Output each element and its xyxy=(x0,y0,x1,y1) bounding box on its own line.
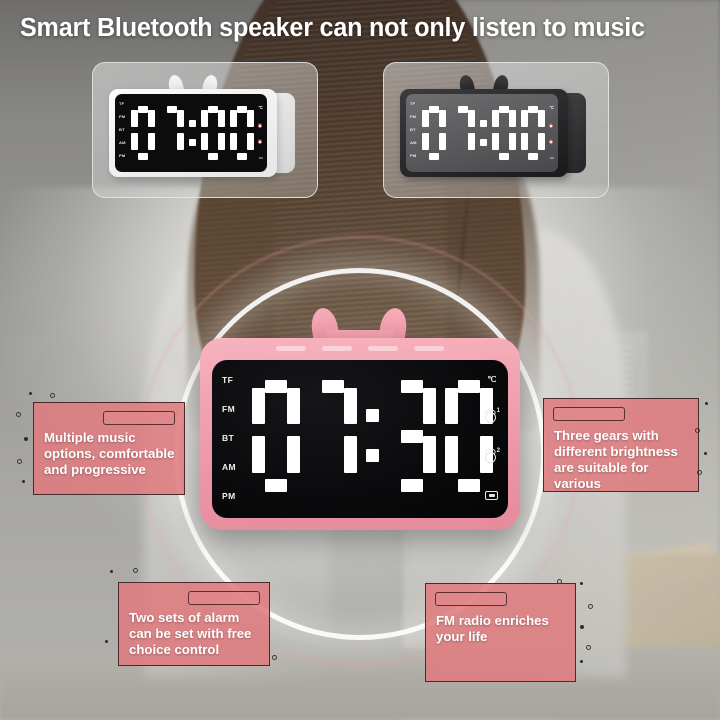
alarm-clock-icon xyxy=(485,412,496,423)
alarm1-indicator: 1 xyxy=(485,412,499,423)
clock-led-display: TF FM BT AM PM ℃ 1 2 xyxy=(212,360,508,518)
seven-segment-digit xyxy=(252,380,300,492)
indicator-sd-card: ▭ xyxy=(259,156,263,160)
white-clock-time xyxy=(131,106,254,160)
white-clock-display: TF FM BT AM PM ℃ ⏰ ⏰ ▭ xyxy=(115,94,267,172)
indicator-tf: TF xyxy=(119,102,124,106)
clock-button-4[interactable] xyxy=(414,346,444,351)
product-card-black: TF FM BT AM PM ℃ ⏰ ⏰ ▭ xyxy=(383,62,609,198)
callout-accent-bar xyxy=(435,592,507,606)
alarm2-indicator: 2 xyxy=(485,452,499,463)
alarm2-label: 2 xyxy=(497,448,500,454)
seven-segment-colon xyxy=(480,106,487,160)
callout-multiple-music-options: Multiple music options, comfortable and … xyxy=(33,402,185,495)
clock-button-row[interactable] xyxy=(210,344,510,353)
indicator-alarm2: ⏰ xyxy=(258,140,263,144)
black-clock-time xyxy=(422,106,545,160)
decorative-dot xyxy=(22,480,25,483)
decorative-dot xyxy=(557,579,562,584)
callout-accent-bar xyxy=(553,407,625,421)
indicator-sd-card: ▭ xyxy=(550,156,554,160)
decorative-dot xyxy=(16,412,21,417)
indicator-am: AM xyxy=(410,141,417,145)
clock-button-2[interactable] xyxy=(322,346,352,351)
seven-segment-digit xyxy=(201,106,225,160)
decorative-dot xyxy=(24,437,28,441)
decorative-dot xyxy=(580,625,584,629)
seven-segment-digit xyxy=(160,106,184,160)
indicator-am: AM xyxy=(119,141,126,145)
indicator-tf: TF xyxy=(222,376,236,385)
decorative-dot xyxy=(105,640,108,643)
clock-housing: TF FM BT AM PM ℃ 1 2 xyxy=(200,338,520,530)
callout-two-sets-of-alarm: Two sets of alarm can be set with free c… xyxy=(118,582,270,666)
display-right-indicators: ℃ 1 2 xyxy=(485,376,499,500)
decorative-dot xyxy=(586,645,591,650)
seven-segment-digit xyxy=(230,106,254,160)
indicator-celsius: ℃ xyxy=(258,106,263,110)
decorative-dot xyxy=(588,604,593,609)
sd-card-icon xyxy=(485,491,498,500)
alarm-clock-icon xyxy=(485,452,496,463)
seven-segment-digit xyxy=(388,380,436,492)
seven-segment-digit xyxy=(131,106,155,160)
indicator-fm: FM xyxy=(410,115,416,119)
indicator-bt: BT xyxy=(222,434,236,443)
callout-text: Three gears with different brightness ar… xyxy=(554,428,692,492)
indicator-am: AM xyxy=(222,463,236,472)
advertisement-banner: Smart Bluetooth speaker can not only lis… xyxy=(0,0,720,720)
indicator-pm: PM xyxy=(410,154,416,158)
callout-fm-radio: FM radio enriches your life xyxy=(425,583,576,682)
main-clock-time xyxy=(252,380,493,492)
alarm1-label: 1 xyxy=(497,408,500,414)
callout-text: FM radio enriches your life xyxy=(436,613,569,645)
display-left-indicators: TF FM BT AM PM xyxy=(222,376,236,500)
indicator-celsius: ℃ xyxy=(549,106,554,110)
seven-segment-digit xyxy=(521,106,545,160)
decorative-dot xyxy=(705,402,708,405)
seven-segment-digit xyxy=(451,106,475,160)
indicator-alarm1: ⏰ xyxy=(549,124,554,128)
callout-text: Two sets of alarm can be set with free c… xyxy=(129,610,263,658)
product-card-white: TF FM BT AM PM ℃ ⏰ ⏰ ▭ xyxy=(92,62,318,198)
decorative-dot xyxy=(133,568,138,573)
decorative-dot xyxy=(50,393,55,398)
main-product-clock: TF FM BT AM PM ℃ 1 2 xyxy=(200,338,520,530)
seven-segment-digit xyxy=(422,106,446,160)
decorative-dot xyxy=(17,459,22,464)
indicator-alarm1: ⏰ xyxy=(258,124,263,128)
decorative-dot xyxy=(29,392,32,395)
decorative-dot xyxy=(110,570,113,573)
indicator-alarm2: ⏰ xyxy=(549,140,554,144)
indicator-bt: BT xyxy=(119,128,125,132)
decorative-dot xyxy=(697,470,702,475)
callout-text: Multiple music options, comfortable and … xyxy=(44,430,178,478)
clock-button-1[interactable] xyxy=(276,346,306,351)
callout-accent-bar xyxy=(103,411,175,425)
page-title: Smart Bluetooth speaker can not only lis… xyxy=(20,14,700,43)
seven-segment-colon xyxy=(189,106,196,160)
white-clock-illustration: TF FM BT AM PM ℃ ⏰ ⏰ ▭ xyxy=(93,63,317,197)
callout-accent-bar xyxy=(188,591,260,605)
seven-segment-digit xyxy=(492,106,516,160)
decorative-dot xyxy=(272,655,277,660)
black-clock-display: TF FM BT AM PM ℃ ⏰ ⏰ ▭ xyxy=(406,94,558,172)
callout-three-gears-brightness: Three gears with different brightness ar… xyxy=(543,398,699,492)
indicator-pm: PM xyxy=(119,154,125,158)
decorative-dot xyxy=(704,452,707,455)
indicator-pm: PM xyxy=(222,492,236,501)
decorative-dot xyxy=(580,660,583,663)
indicator-tf: TF xyxy=(410,102,415,106)
indicator-fm: FM xyxy=(119,115,125,119)
seven-segment-digit xyxy=(309,380,357,492)
indicator-fm: FM xyxy=(222,405,236,414)
clock-button-3[interactable] xyxy=(368,346,398,351)
indicator-bt: BT xyxy=(410,128,416,132)
decorative-dot xyxy=(695,428,700,433)
decorative-dot xyxy=(580,582,583,585)
celsius-icon: ℃ xyxy=(487,376,496,384)
seven-segment-colon xyxy=(366,380,379,492)
black-clock-illustration: TF FM BT AM PM ℃ ⏰ ⏰ ▭ xyxy=(384,63,608,197)
